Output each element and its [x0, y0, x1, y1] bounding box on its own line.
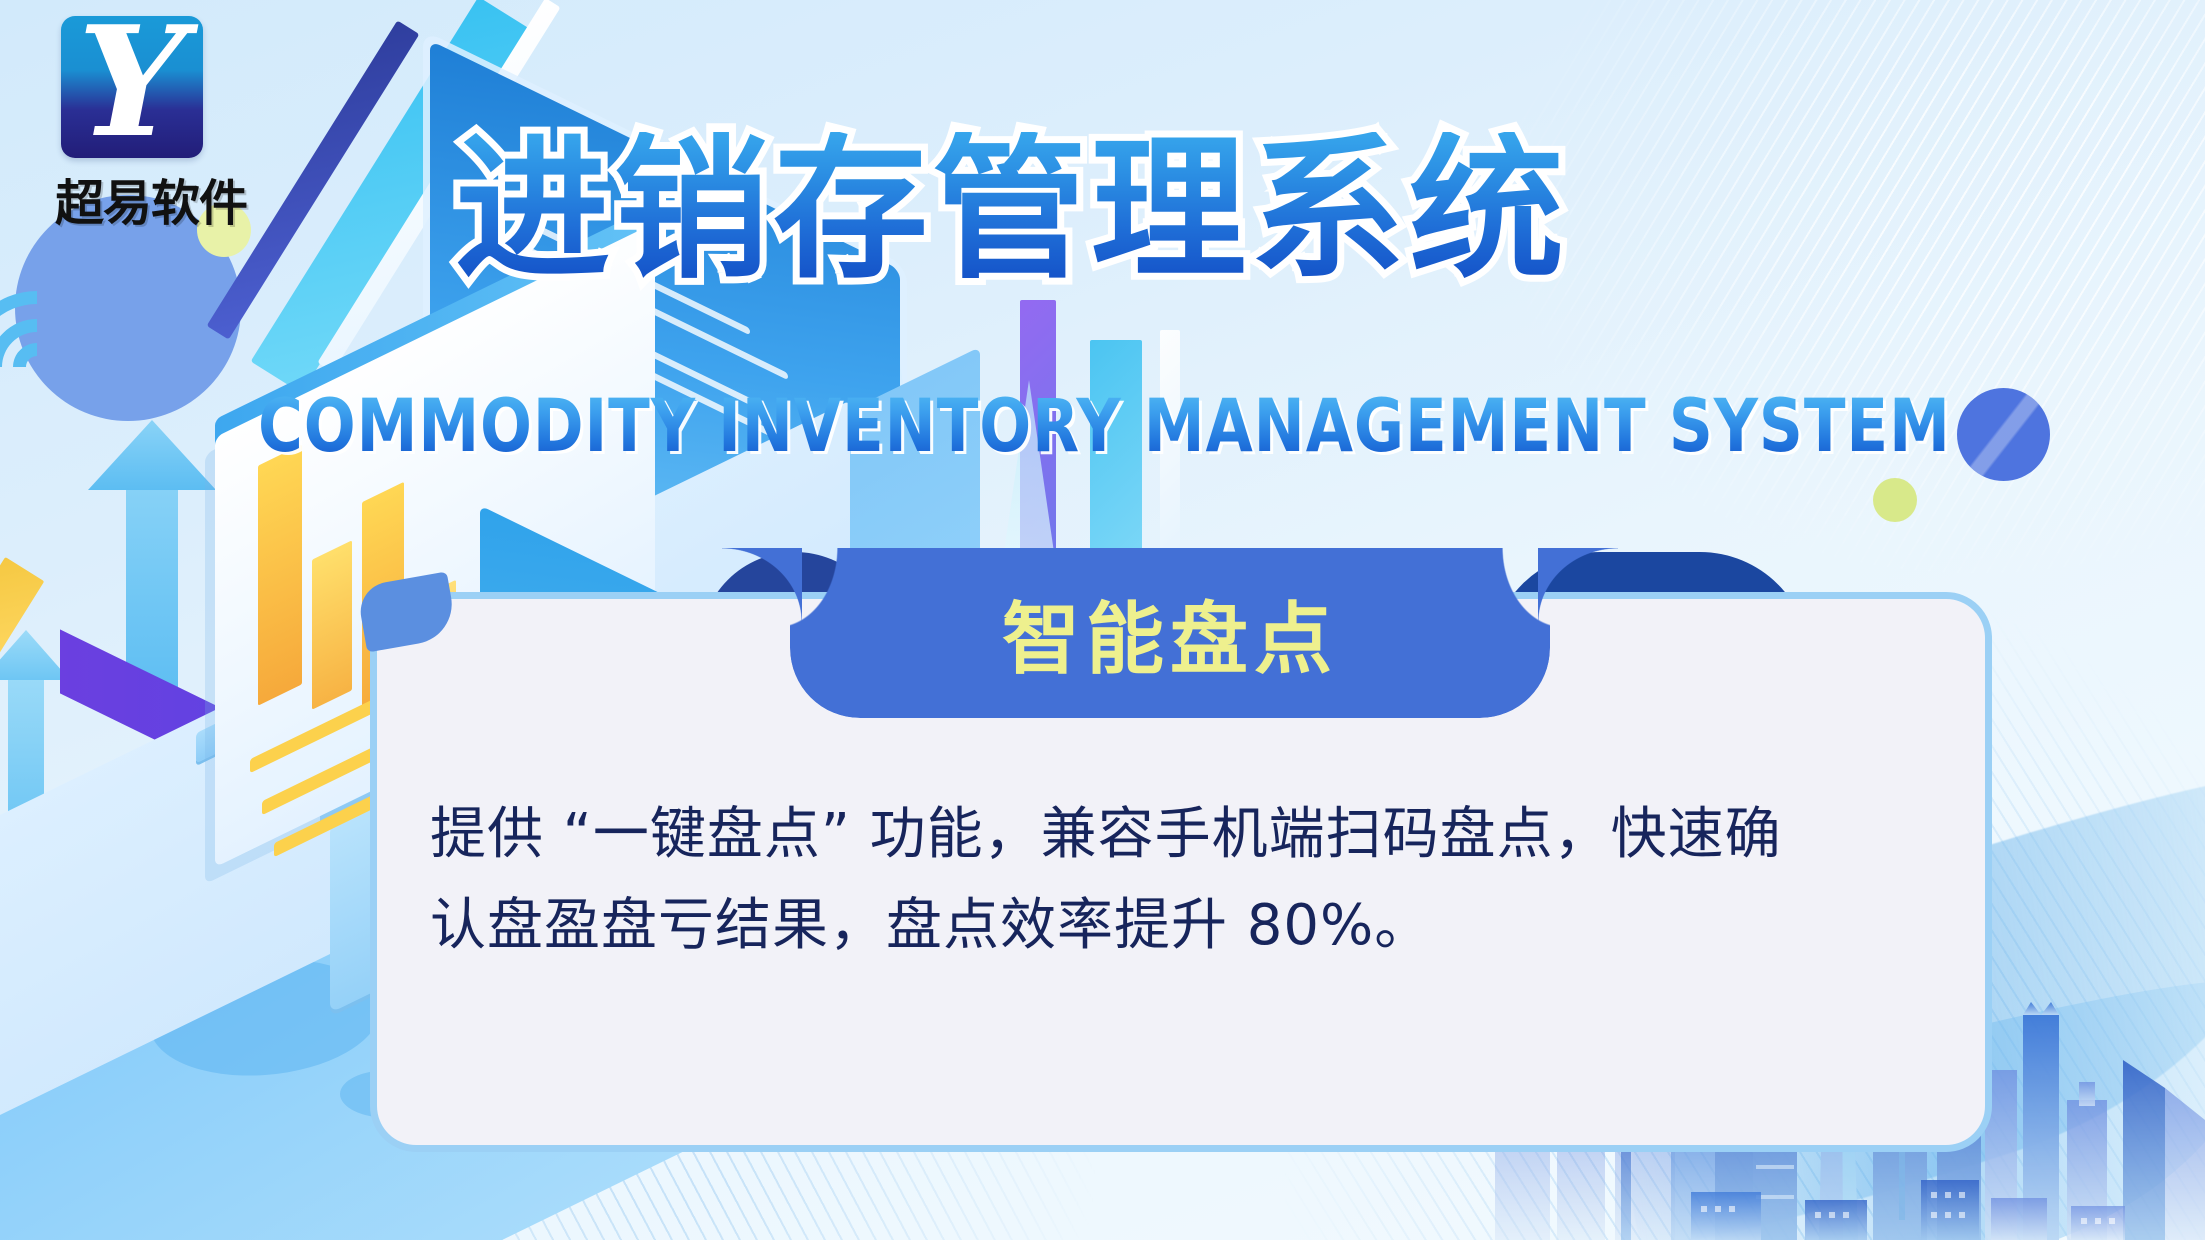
feature-card-body: 提供 “一键盘点” 功能，兼容手机端扫码盘点，快速确 认盘盈盘亏结果，盘点效率提… — [430, 790, 1930, 971]
feature-banner-label: 智能盘点 — [790, 548, 1550, 718]
diagonal-lines-top-right — [1483, 0, 2205, 580]
y-logo-icon: Y — [61, 16, 203, 158]
feature-body-line-2: 认盘盈盘亏结果，盘点效率提升 80%。 — [430, 881, 1930, 972]
decor-circle-lime-small — [1873, 478, 1917, 522]
company-name: 超易软件 — [55, 164, 247, 235]
poster-canvas: Y 超易软件 进销存管理系统 进销存管理系统 COMMODITY INVENTO… — [0, 0, 2205, 1240]
banner-shoulder-right — [1538, 548, 1618, 622]
feature-body-line-1: 提供 “一键盘点” 功能，兼容手机端扫码盘点，快速确 — [430, 790, 1930, 881]
logo-letter: Y — [61, 16, 203, 158]
page-title: 进销存管理系统 — [455, 132, 1568, 287]
page-subtitle: COMMODITY INVENTORY MANAGEMENT SYSTEM — [258, 390, 1951, 463]
brand-logo[interactable]: Y 超易软件 — [55, 16, 247, 235]
wifi-icon — [0, 285, 135, 465]
decor-circle-blue — [1957, 388, 2050, 481]
